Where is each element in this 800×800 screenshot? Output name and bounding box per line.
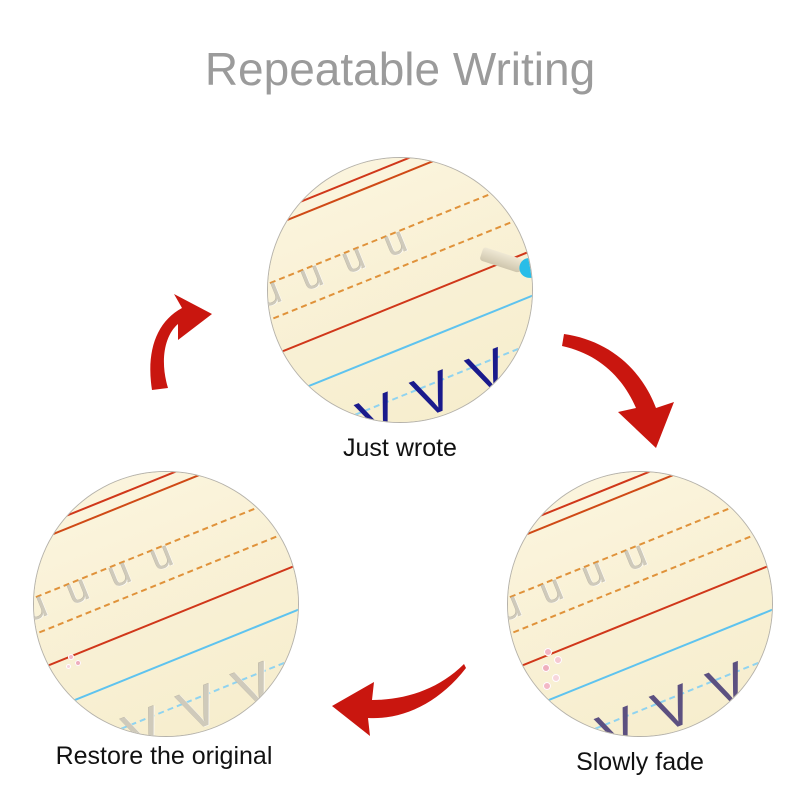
- letter-row-u: u u u u u: [34, 532, 178, 645]
- letter-u-groove: u: [34, 586, 53, 627]
- letter-row-u: u u u u u: [268, 218, 412, 331]
- arrow-just-wrote-to-slowly-fade: [560, 330, 690, 460]
- letter-u-groove: u: [535, 570, 568, 611]
- letter-v-fresh-ink: V: [461, 340, 516, 403]
- arrow-restore-to-just-wrote: [130, 278, 250, 398]
- flower-decoration: [62, 638, 96, 690]
- step-image-slowly-fade: u u u u u V V V V V V 伞: [508, 472, 772, 736]
- paper-surface-slowly-fade: u u u u u V V V V V V 伞: [508, 472, 772, 736]
- paper-surface-restore-the-original: u u u u u V V V V 伞: [34, 472, 298, 736]
- letter-u-groove: u: [268, 272, 287, 313]
- letter-v-faded-ink: V: [701, 654, 756, 717]
- letter-v-faded-ink: V: [591, 699, 646, 736]
- caption-slowly-fade: Slowly fade: [508, 748, 772, 777]
- letter-u-groove: u: [103, 553, 136, 594]
- letter-v-written: V: [536, 721, 591, 736]
- letter-v-restored-groove: V: [117, 699, 172, 736]
- page-title: Repeatable Writing: [0, 44, 800, 95]
- letter-row-u: u u u u u: [508, 532, 652, 645]
- letter-v-restored-groove: V: [227, 654, 282, 717]
- letter-v-fresh-ink: V: [406, 362, 461, 422]
- letter-v-fresh-ink: V: [351, 385, 406, 422]
- step-image-just-wrote: u u u u u V V V V: [268, 158, 532, 422]
- paper-surface-just-wrote: u u u u u V V V V: [268, 158, 532, 422]
- letter-u-groove: u: [337, 239, 370, 280]
- letter-u-groove: u: [508, 586, 527, 627]
- flower-decoration: [538, 644, 572, 696]
- letter-u-groove: u: [295, 256, 328, 297]
- letter-v-restored-groove: V: [172, 676, 227, 736]
- letter-row-v: V V V V: [296, 340, 516, 422]
- letter-v-written: V: [62, 721, 117, 736]
- letter-v-faded-ink: V: [646, 676, 701, 736]
- letter-v-written: V: [296, 407, 351, 422]
- letter-u-groove: u: [577, 553, 610, 594]
- step-image-restore-the-original: u u u u u V V V V 伞: [34, 472, 298, 736]
- caption-just-wrote: Just wrote: [268, 434, 532, 463]
- letter-u-groove: u: [61, 570, 94, 611]
- arrow-slowly-fade-to-restore: [330, 662, 470, 752]
- caption-restore-the-original: Restore the original: [14, 742, 314, 771]
